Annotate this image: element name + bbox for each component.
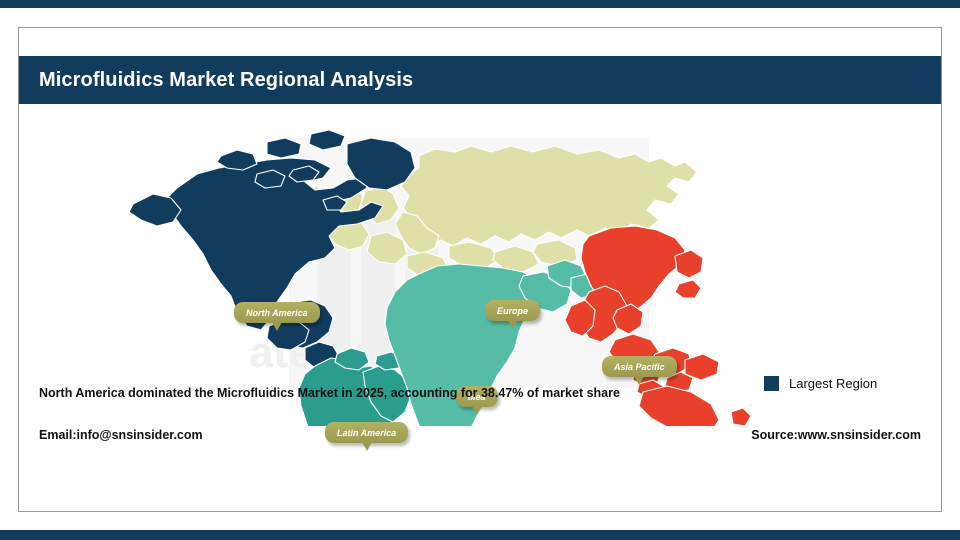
- footer: Email:info@snsinsider.com Source:www.sns…: [19, 428, 941, 442]
- bottom-accent-bar: [0, 530, 960, 540]
- legend: Largest Region: [764, 376, 877, 391]
- map-label-text: Europe: [497, 306, 528, 316]
- caption-text: North America dominated the Microfluidic…: [39, 386, 620, 400]
- legend-swatch-largest-region: [764, 376, 779, 391]
- footer-source: Source:www.snsinsider.com: [751, 428, 921, 442]
- map-label-text: North America: [246, 308, 308, 318]
- legend-label-largest-region: Largest Region: [789, 376, 877, 391]
- title-bar: Microfluidics Market Regional Analysis: [19, 56, 941, 104]
- map-label-north-america[interactable]: North America: [234, 302, 320, 323]
- map-label-asia-pacific[interactable]: Asia Pacific: [602, 356, 677, 377]
- slide-card: Microfluidics Market Regional Analysis a…: [18, 27, 942, 512]
- footer-email: Email:info@snsinsider.com: [39, 428, 203, 442]
- top-accent-bar: [0, 0, 960, 8]
- page-title: Microfluidics Market Regional Analysis: [19, 69, 413, 92]
- map-label-text: Asia Pacific: [614, 362, 665, 372]
- world-map-svg: [119, 116, 759, 426]
- map-label-europe[interactable]: Europe: [485, 300, 540, 321]
